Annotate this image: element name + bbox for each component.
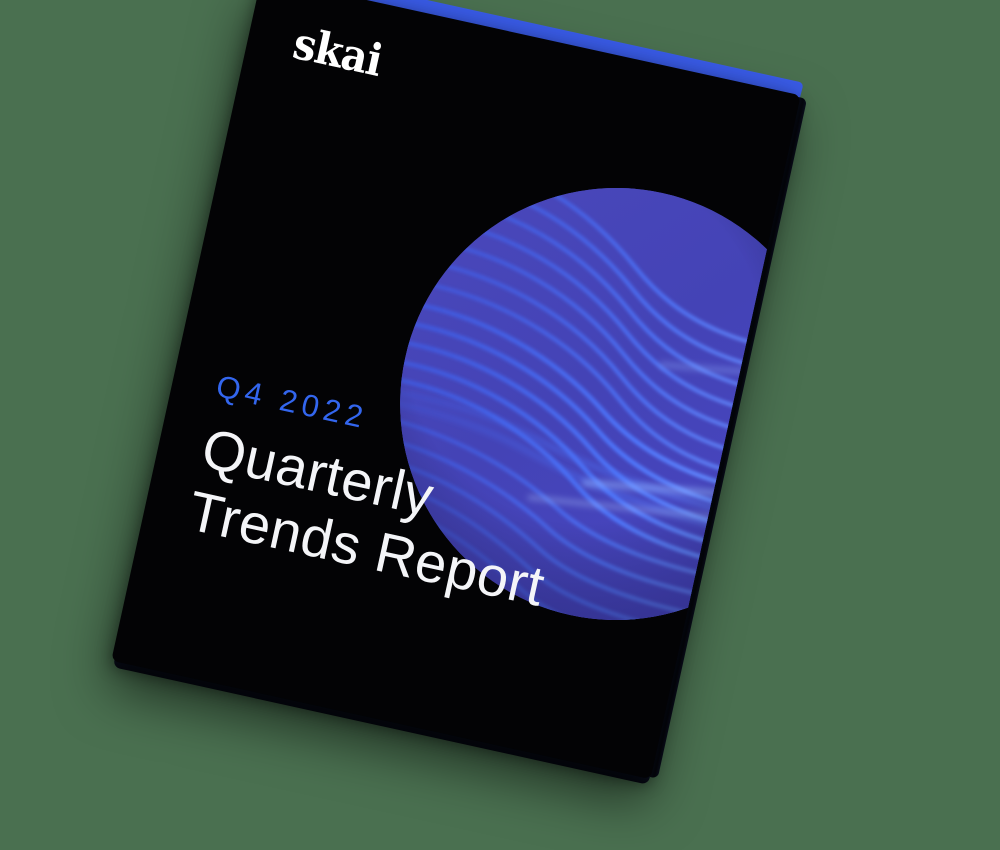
report-title-line-2: Trends Report [183,479,685,649]
report-front-cover[interactable]: skai [111,0,800,779]
scene-backdrop: skai [0,0,1000,850]
skai-logo: skai [289,22,385,84]
report-cover-mockup[interactable]: skai [111,0,800,779]
